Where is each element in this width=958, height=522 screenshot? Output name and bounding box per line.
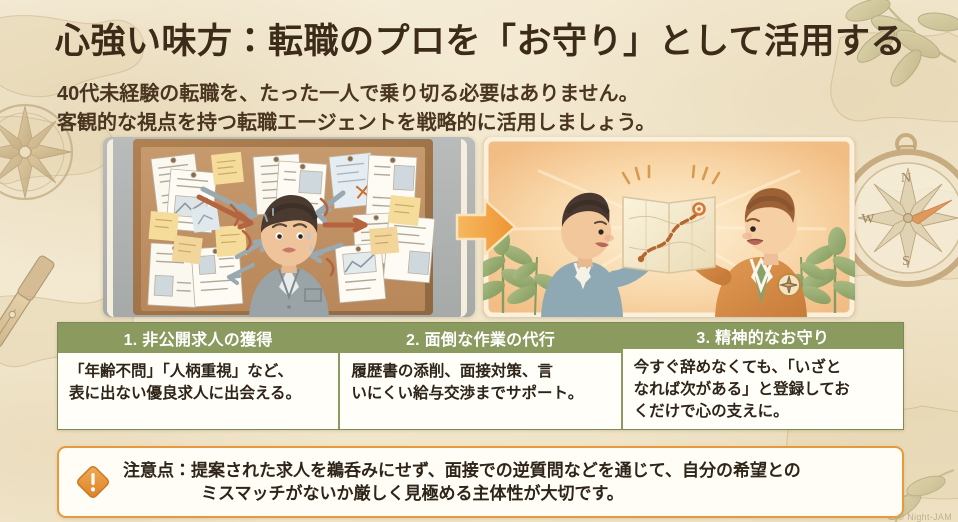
feature-card-2: 2. 面倒な作業の代行 履歴書の添削、面接対策、言 いにくい給与交渉までサポート…: [340, 323, 622, 429]
watermark: © Night-JAM: [898, 512, 952, 522]
feature-card-2-line-1: 履歴書の添削、面接対策、言: [351, 361, 610, 383]
warning-text: 注意点：提案された求人を鵜呑みにせず、面接での逆質問などを通じて、自分の希望との…: [123, 459, 890, 506]
subtitle-line-1: 40代未経験の転職を、たった一人で乗り切る必要はありません。: [57, 80, 757, 109]
feature-card-1-body: 「年齢不問」「人柄重視」など、 表に出ない優良求人に出会える。: [58, 353, 338, 429]
feature-card-1-header: 1. 非公開求人の獲得: [58, 323, 338, 353]
feature-card-3-body: 今すぐ辞めなくても、「いざと なれば次がある」と登録してお くだけで心の支えに。: [623, 349, 903, 429]
warning-box: 注意点：提案された求人を鵜呑みにせず、面接での逆質問などを通じて、自分の希望との…: [57, 446, 904, 518]
subtitle-line-2: 客観的な視点を持つ転職エージェントを戦略的に活用しましょう。: [57, 109, 757, 138]
feature-card-2-header: 2. 面倒な作業の代行: [340, 323, 620, 353]
page-title: 心強い味方：転職のプロを「お守り」として活用する: [55, 22, 915, 61]
feature-cards: 1. 非公開求人の獲得 「年齢不問」「人柄重視」など、 表に出ない優良求人に出会…: [57, 322, 904, 430]
feature-card-3-line-3: くだけで心の支えに。: [634, 401, 893, 423]
illustration-row: [103, 137, 855, 317]
agent-guidance-illustration: [483, 137, 855, 317]
feature-card-1: 1. 非公開求人の獲得 「年齢不問」「人柄重視」など、 表に出ない優良求人に出会…: [58, 323, 340, 429]
feature-card-2-body: 履歴書の添削、面接対策、言 いにくい給与交渉までサポート。: [340, 353, 620, 429]
right-arrow-icon: [455, 195, 517, 259]
page-subtitle: 40代未経験の転職を、たった一人で乗り切る必要はありません。 客観的な視点を持つ…: [57, 80, 757, 138]
feature-card-3: 3. 精神的なお守り 今すぐ辞めなくても、「いざと なれば次がある」と登録してお…: [623, 323, 903, 429]
warning-line-1: 注意点：提案された求人を鵜呑みにせず、面接での逆質問などを通じて、自分の希望との: [123, 459, 890, 482]
svg-text:N: N: [901, 171, 911, 186]
confused-jobseeker-illustration: [103, 137, 475, 317]
feature-card-3-header: 3. 精神的なお守り: [623, 323, 903, 349]
feature-card-1-line-1: 「年齢不問」「人柄重視」など、: [69, 361, 328, 383]
svg-text:S: S: [902, 254, 910, 269]
slide-root: N S W 心強い味方：転職のプロを「お守り」として活用: [0, 0, 958, 522]
feature-card-3-line-1: 今すぐ辞めなくても、「いざと: [634, 357, 893, 379]
svg-text:W: W: [861, 212, 875, 227]
warning-diamond-icon: [73, 462, 113, 502]
feature-card-1-line-2: 表に出ない優良求人に出会える。: [69, 383, 328, 405]
feature-card-3-line-2: なれば次がある」と登録してお: [634, 379, 893, 401]
warning-line-2: ミスマッチがないか厳しく見極める主体性が大切です。: [123, 482, 890, 505]
feature-card-2-line-2: いにくい給与交渉までサポート。: [351, 383, 610, 405]
